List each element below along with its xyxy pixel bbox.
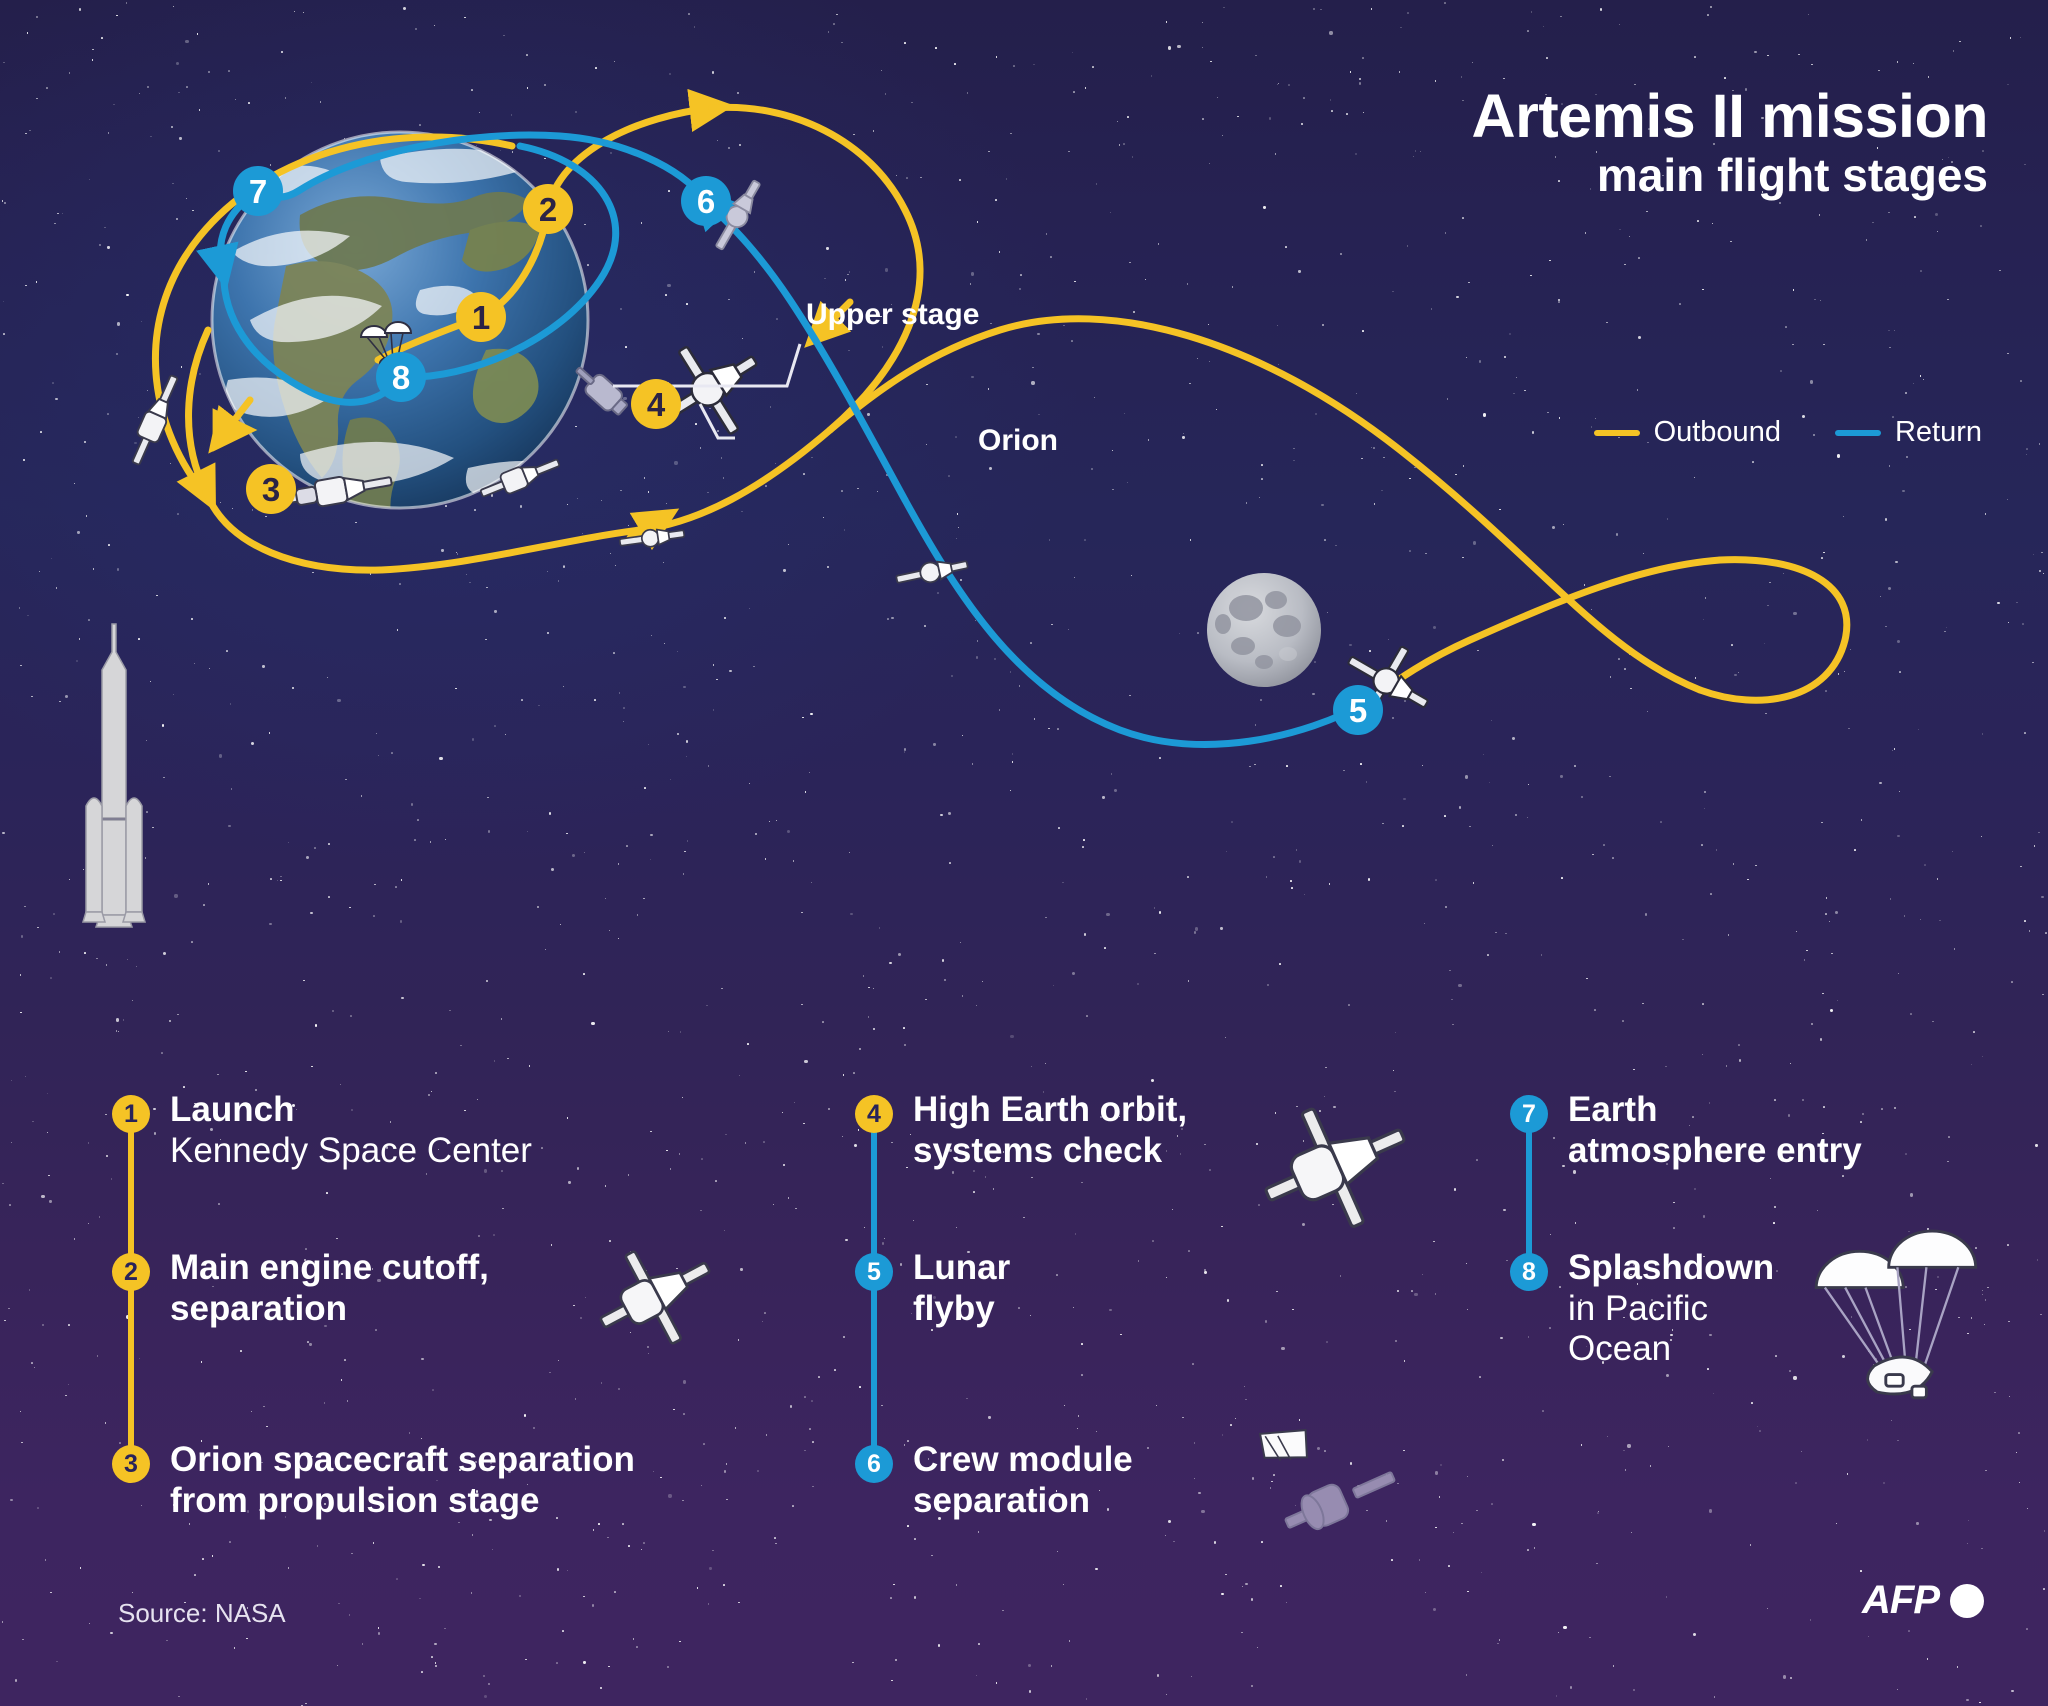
- step-bullet-7: 7: [1510, 1095, 1548, 1133]
- illustration-orion-key-1: [580, 1224, 732, 1368]
- step-connector-5: [871, 1287, 877, 1449]
- illustration-orion-key-2: [1243, 1080, 1428, 1254]
- step-bullet-5: 5: [855, 1253, 893, 1291]
- step-connector-4: [871, 1129, 877, 1257]
- step-connector-7: [1526, 1129, 1532, 1257]
- step-bullet-6: 6: [855, 1445, 893, 1483]
- afp-wordmark: AFP: [1862, 1578, 1939, 1623]
- step-bullet-2: 2: [112, 1253, 150, 1291]
- illustration-splashdown-capsule: [1816, 1231, 1976, 1398]
- illustration-crew-module-separation: [1256, 1419, 1400, 1540]
- source-note: Source: NASA: [118, 1598, 286, 1629]
- step-bullet-8: 8: [1510, 1253, 1548, 1291]
- key-illustrations: [0, 0, 2048, 1706]
- infographic-canvas: 12345678 Artemis II mission main flight …: [0, 0, 2048, 1706]
- step-connector-2: [128, 1287, 134, 1449]
- step-connector-1: [128, 1129, 134, 1257]
- step-bullet-1: 1: [112, 1095, 150, 1133]
- step-bullet-3: 3: [112, 1445, 150, 1483]
- step-bullet-4: 4: [855, 1095, 893, 1133]
- afp-logo: AFP: [1862, 1578, 1984, 1623]
- afp-dot-icon: [1950, 1584, 1984, 1618]
